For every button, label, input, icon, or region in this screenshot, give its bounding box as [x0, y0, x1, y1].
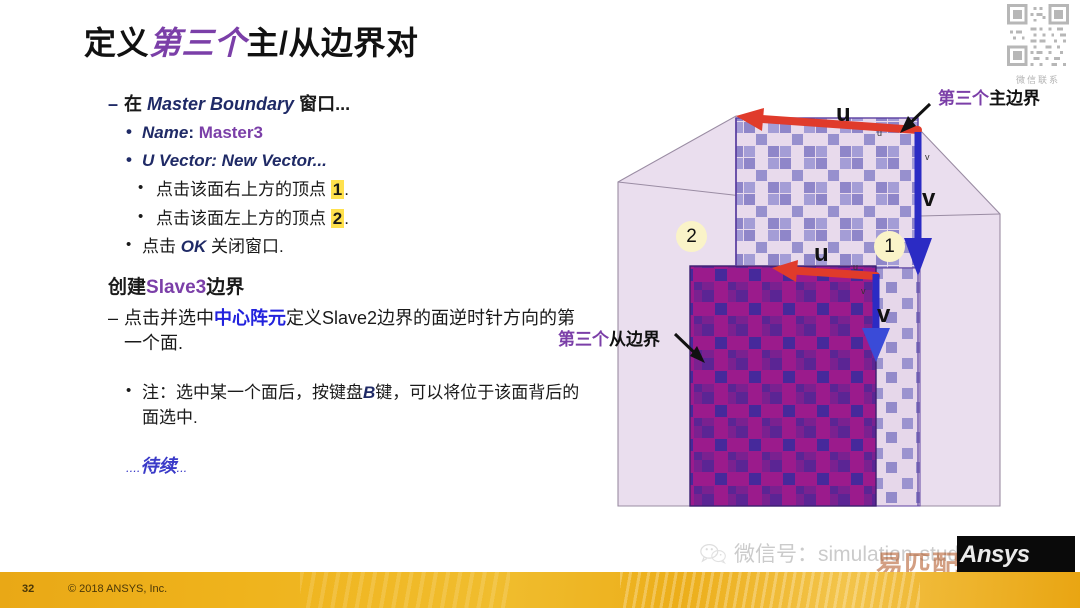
title-prefix: 定义	[84, 25, 149, 61]
page-number: 32	[22, 583, 34, 595]
vertex-marker-1: 1	[874, 231, 905, 262]
bullet-dot-icon: •	[126, 380, 131, 401]
footer-streak-right	[620, 572, 920, 608]
title-emphasis: 第三个	[149, 25, 247, 61]
footer-bar: 32 © 2018 ANSYS, Inc.	[0, 572, 1080, 608]
label-small-v-mid: v	[861, 286, 866, 296]
label-v-mid: v	[877, 301, 890, 329]
ok-pre: 点击	[142, 237, 181, 256]
sub1-post: .	[344, 180, 349, 199]
bullet-dot-icon: •	[138, 177, 143, 199]
title-suffix: 主/从边界对	[247, 25, 419, 61]
label-small-v-top: v	[925, 152, 930, 162]
sub2-post: .	[344, 209, 349, 228]
step2-pre: 点击并选中	[124, 308, 214, 328]
bullet-dot-icon: •	[126, 149, 132, 172]
label-v-right: v	[922, 185, 935, 213]
ok-key: OK	[181, 237, 207, 256]
slide: 定义第三个主/从边界对 –在 Master Boundary 窗口... •Na…	[0, 0, 1080, 608]
continued-marker: ....待续...	[126, 452, 588, 478]
sub2-pre: 点击该面左上方的顶点	[156, 209, 331, 228]
ok-post: 关闭窗口.	[206, 237, 283, 256]
bullet-dot-icon: •	[126, 234, 131, 256]
bullet-dot-icon: •	[138, 206, 143, 228]
annotation-slave-emphasis: 第三个	[558, 330, 609, 349]
ansys-logo: Ansys	[960, 541, 1030, 569]
annotation-slave-boundary: 第三个从边界	[558, 325, 660, 350]
name-value: Master3	[199, 123, 263, 142]
dash-marker: –	[108, 92, 118, 116]
note-key: B	[363, 383, 375, 402]
label-small-u-mid: u	[853, 262, 858, 272]
note-keyboard-b: •注：选中某一个面后，按键盘B键，可以将位于该面背后的面选中.	[108, 381, 588, 429]
step1-post: 窗口...	[294, 94, 350, 114]
vertex-number-2: 2	[331, 209, 344, 228]
sub1-pre: 点击该面右上方的顶点	[156, 180, 331, 199]
qr-code-block: 微信联系	[1004, 4, 1072, 86]
footer-streak-left	[300, 572, 510, 608]
continued-trail: ...	[176, 460, 187, 475]
note-pre: 注：选中某一个面后，按键盘	[142, 383, 363, 402]
bullet-select-center-element: –点击并选中中心阵元定义Slave2边界的面逆时针方向的第一个面.	[108, 306, 588, 356]
heading2-em: Slave3	[146, 277, 206, 298]
annotation-master-emphasis: 第三个	[938, 89, 989, 108]
wechat-icon	[700, 543, 727, 564]
step2-em: 中心阵元	[214, 308, 286, 328]
bullet-uvector: •U Vector: New Vector...	[108, 150, 588, 173]
qr-code-icon	[1007, 4, 1069, 66]
geometry-diagram: 第三个主边界 第三个从边界 u v u v u v u v 1 2	[600, 86, 1080, 542]
bullet-name: •Name: Master3	[108, 122, 588, 145]
slave-face	[690, 266, 876, 506]
bullet-click-vertex-1: •点击该面右上方的顶点 1.	[108, 178, 588, 203]
copyright-text: © 2018 ANSYS, Inc.	[68, 583, 167, 595]
dash-marker: –	[108, 306, 118, 331]
page-title: 定义第三个主/从边界对	[84, 18, 418, 64]
heading2-pre: 创建	[108, 277, 146, 298]
name-sep: :	[188, 123, 198, 142]
label-small-u-top: u	[877, 128, 882, 138]
heading2-post: 边界	[206, 277, 244, 298]
diagram-svg	[600, 86, 1080, 542]
continued-lead: ....	[126, 460, 140, 475]
name-label: Name	[142, 123, 188, 142]
bullet-click-ok: •点击 OK 关闭窗口.	[108, 235, 588, 260]
content-column: –在 Master Boundary 窗口... •Name: Master3 …	[108, 92, 588, 478]
bullet-master-boundary: –在 Master Boundary 窗口...	[108, 92, 588, 116]
step1-em: Master Boundary	[147, 94, 294, 114]
uvector-label: U Vector: New Vector...	[142, 151, 327, 170]
label-u-mid: u	[814, 240, 829, 268]
bullet-click-vertex-2: • 点击该面左上方的顶点 2.	[108, 207, 588, 232]
step1-pre: 在	[124, 94, 147, 114]
section-heading-slave3: 创建Slave3边界	[108, 276, 588, 301]
qr-caption: 微信联系	[1004, 73, 1072, 86]
vertex-number-1: 1	[331, 180, 344, 199]
vertex-marker-2: 2	[676, 221, 707, 252]
annotation-master-rest: 主边界	[989, 89, 1040, 108]
continued-text: 待续	[140, 456, 176, 476]
annotation-master-boundary: 第三个主边界	[938, 84, 1040, 109]
annotation-slave-rest: 从边界	[609, 330, 660, 349]
bullet-dot-icon: •	[126, 121, 132, 144]
label-u-top: u	[836, 100, 851, 128]
